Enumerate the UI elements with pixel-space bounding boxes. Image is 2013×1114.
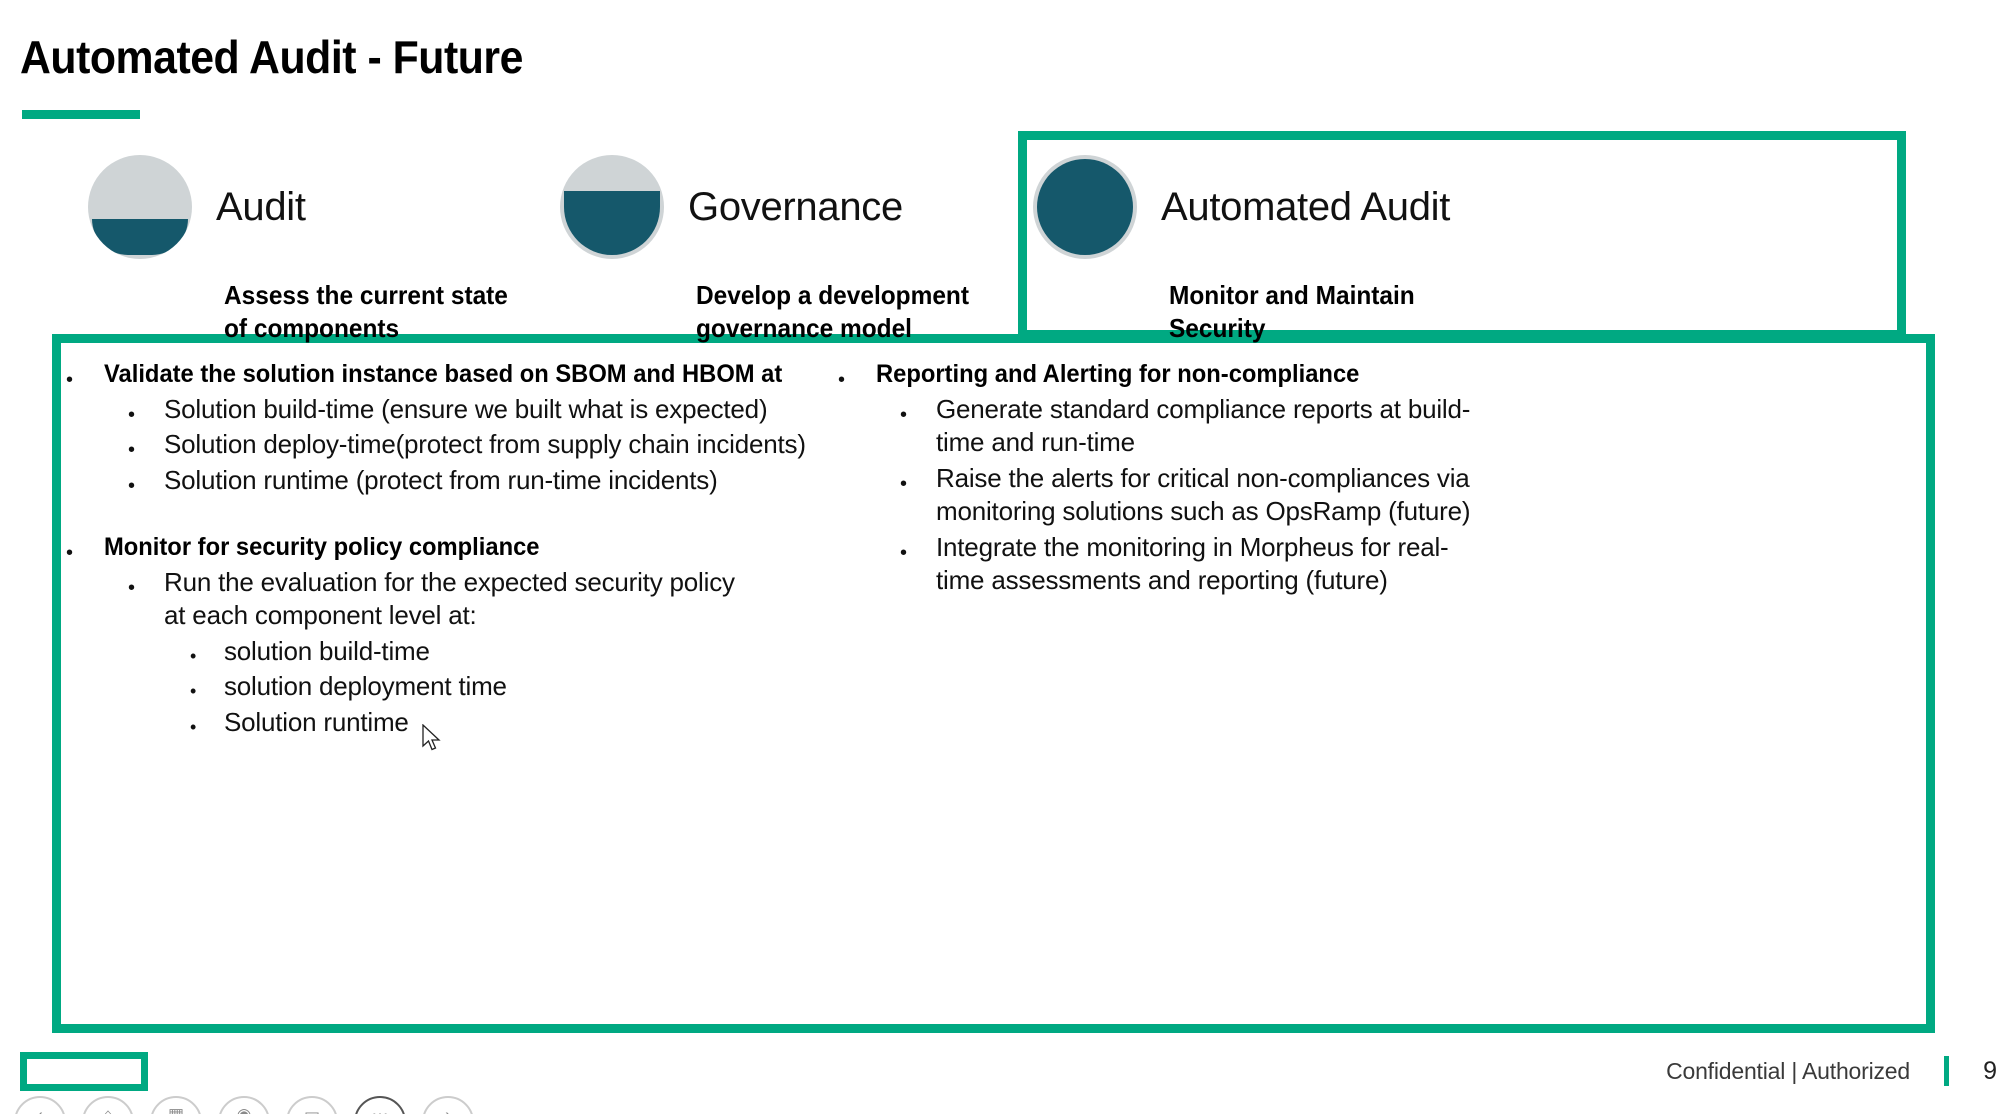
bullet-list-left: • Validate the solution instance based o… <box>66 358 866 739</box>
hpe-logo <box>20 1052 148 1091</box>
bullet-dot-icon: • <box>128 428 164 460</box>
bullet-dot-icon: • <box>190 670 224 700</box>
notes-icon: ▭ <box>288 1106 336 1114</box>
slide-footer: Confidential | Authorized 9 <box>1666 1056 1997 1086</box>
fill-gauge-icon-governance <box>560 155 664 259</box>
bullet-text: Reporting and Alerting for non-complianc… <box>876 358 1359 391</box>
bullet-text: Solution deploy-time(protect from supply… <box>164 428 806 462</box>
previous-slide-button[interactable]: ‹ <box>14 1096 66 1114</box>
page-title: Automated Audit - Future <box>20 30 523 84</box>
bullet-item: • Generate standard compliance reports a… <box>838 393 1518 460</box>
bullet-item: • Raise the alerts for critical non-comp… <box>838 462 1518 529</box>
stage-governance-subtitle: Develop a development governance model <box>696 279 969 346</box>
bullet-text: Solution runtime <box>224 706 409 740</box>
bullet-item: • solution build-time <box>66 635 866 669</box>
grid-icon: ▦ <box>152 1106 200 1114</box>
laser-pointer-icon: ◉ <box>220 1106 268 1114</box>
fill-gauge-icon-audit <box>88 155 192 259</box>
fill-gauge-icon-automated-audit <box>1033 155 1137 259</box>
bullet-dot-icon: • <box>838 358 876 390</box>
more-options-button[interactable]: ⋯ <box>354 1096 406 1114</box>
next-slide-button[interactable]: › <box>422 1096 474 1114</box>
bullet-item: • Integrate the monitoring in Morpheus f… <box>838 531 1518 598</box>
bullet-item: • Solution build-time (ensure we built w… <box>66 393 866 427</box>
stage-governance-head: Governance <box>560 155 986 259</box>
bullet-dot-icon: • <box>66 531 104 563</box>
stage-audit: Audit Assess the current state of compon… <box>88 155 526 346</box>
bullet-dot-icon: • <box>900 393 936 425</box>
bullet-item: • Reporting and Alerting for non-complia… <box>838 358 1518 391</box>
stage-automated-audit: Automated Audit Monitor and Maintain Sec… <box>1033 155 1450 346</box>
bullet-item: • Monitor for security policy compliance <box>66 531 866 564</box>
bullet-text: Validate the solution instance based on … <box>104 358 782 391</box>
bullet-text: solution deployment time <box>224 670 507 704</box>
bullet-list-right: • Reporting and Alerting for non-complia… <box>838 358 1518 598</box>
notes-button[interactable]: ▭ <box>286 1096 338 1114</box>
bullet-text: Raise the alerts for critical non-compli… <box>936 462 1476 529</box>
stage-automated-audit-title: Automated Audit <box>1161 185 1450 230</box>
footer-divider <box>1944 1056 1949 1086</box>
bullet-text: Generate standard compliance reports at … <box>936 393 1501 460</box>
bullet-item: • Validate the solution instance based o… <box>66 358 866 391</box>
bullet-dot-icon: • <box>900 531 936 563</box>
slide-grid-button[interactable]: ▦ <box>150 1096 202 1114</box>
bullet-text: Solution runtime (protect from run-time … <box>164 464 718 498</box>
bullet-text: solution build-time <box>224 635 430 669</box>
confidentiality-label: Confidential | Authorized <box>1666 1058 1910 1085</box>
bullet-item: • Solution runtime (protect from run-tim… <box>66 464 866 498</box>
home-icon: ⌂ <box>84 1106 132 1114</box>
home-button[interactable]: ⌂ <box>82 1096 134 1114</box>
stage-governance-title: Governance <box>688 185 903 230</box>
bullet-text: Run the evaluation for the expected secu… <box>164 566 754 633</box>
stage-audit-title: Audit <box>216 185 306 230</box>
bullet-text: Solution build-time (ensure we built wha… <box>164 393 767 427</box>
bullet-dot-icon: • <box>190 635 224 665</box>
page-number: 9 <box>1977 1057 1997 1086</box>
bullet-dot-icon: • <box>900 462 936 494</box>
bullet-item: • Solution deploy-time(protect from supp… <box>66 428 866 462</box>
bullet-item: • Solution runtime <box>66 706 866 740</box>
bullet-dot-icon: • <box>190 706 224 736</box>
bullet-text: Integrate the monitoring in Morpheus for… <box>936 531 1488 598</box>
presentation-toolbar[interactable]: ‹ ⌂ ▦ ◉ ▭ ⋯ › <box>14 1096 474 1114</box>
stage-automated-audit-head: Automated Audit <box>1033 155 1450 259</box>
ellipsis-icon: ⋯ <box>356 1106 404 1114</box>
bullet-spacer <box>66 497 866 531</box>
bullet-dot-icon: • <box>66 358 104 390</box>
bullet-dot-icon: • <box>128 393 164 425</box>
chevron-left-icon: ‹ <box>16 1106 64 1114</box>
bullet-dot-icon: • <box>128 464 164 496</box>
bullet-dot-icon: • <box>128 566 164 598</box>
bullet-item: • solution deployment time <box>66 670 866 704</box>
chevron-right-icon: › <box>424 1106 472 1114</box>
stage-audit-subtitle: Assess the current state of components <box>224 279 508 346</box>
bullet-item: • Run the evaluation for the expected se… <box>66 566 866 633</box>
stage-audit-head: Audit <box>88 155 526 259</box>
stage-automated-audit-subtitle: Monitor and Maintain Security <box>1169 279 1433 346</box>
bullet-text: Monitor for security policy compliance <box>104 531 540 564</box>
stage-governance: Governance Develop a development governa… <box>560 155 986 346</box>
title-accent-underline <box>22 110 140 119</box>
laser-pointer-button[interactable]: ◉ <box>218 1096 270 1114</box>
